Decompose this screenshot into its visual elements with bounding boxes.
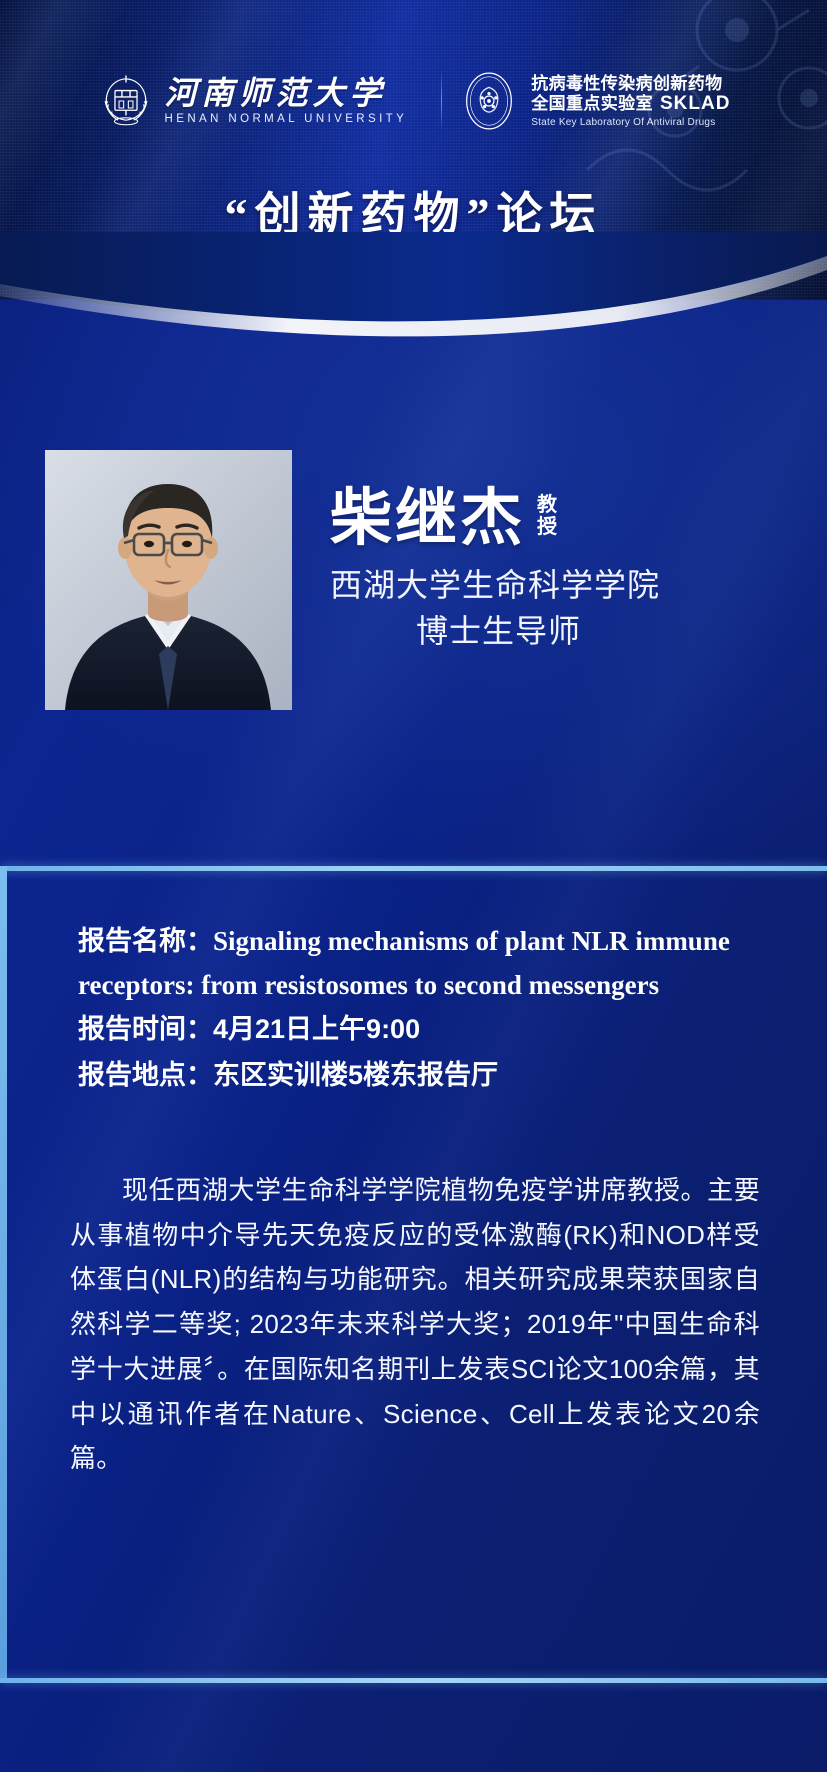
lab-name-line1: 抗病毒性传染病创新药物 — [531, 74, 730, 93]
university-name-cn: 河南师范大学 — [165, 77, 408, 111]
university-name-en: HENAN NORMAL UNIVERSITY — [165, 114, 408, 126]
university-crest-icon — [97, 72, 155, 130]
forum-title: “创新药物”论坛 — [0, 178, 827, 244]
speaker-academic-title: 教 授 — [537, 488, 557, 539]
speaker-photo — [45, 450, 292, 710]
speaker-info: 柴继杰 教 授 西湖大学生命科学学院 博士生导师 — [330, 488, 780, 655]
footer-accent-bar — [0, 1678, 827, 1683]
report-time-value: 4月21日上午9:00 — [213, 1014, 420, 1044]
poster-canvas: 河南师范大学 HENAN NORMAL UNIVERSITY — [0, 0, 827, 1772]
report-place-value: 东区实训楼5楼东报告厅 — [213, 1060, 498, 1090]
lab-name-en: State Key Laboratory Of Antiviral Drugs — [531, 117, 730, 128]
logo-bar: 河南师范大学 HENAN NORMAL UNIVERSITY — [0, 58, 827, 144]
affiliation-line-1: 西湖大学生命科学学院 — [330, 562, 780, 608]
speaker-name: 柴继杰 — [330, 488, 525, 550]
section-divider-line — [0, 866, 827, 871]
report-place-label: 报告地点： — [78, 1060, 213, 1090]
report-title-label: 报告名称： — [78, 926, 213, 956]
report-time-row: 报告时间：4月21日上午9:00 — [78, 1007, 750, 1053]
university-logo: 河南师范大学 HENAN NORMAL UNIVERSITY — [97, 72, 426, 130]
speaker-affiliation: 西湖大学生命科学学院 博士生导师 — [330, 562, 780, 655]
academic-title-char-2: 授 — [537, 516, 557, 538]
left-accent-edge — [0, 866, 7, 1683]
academic-title-char-1: 教 — [537, 494, 557, 516]
logo-divider — [441, 70, 442, 132]
report-place-row: 报告地点：东区实训楼5楼东报告厅 — [78, 1053, 750, 1099]
speaker-biography: 现任西湖大学生命科学学院植物免疫学讲席教授。主要从事植物中介导先天免疫反应的受体… — [70, 1168, 760, 1481]
lab-name-line2: 全国重点实验室 — [531, 94, 653, 113]
lecture-details: 报告名称：Signaling mechanisms of plant NLR i… — [78, 920, 750, 1099]
poster-header: 河南师范大学 HENAN NORMAL UNIVERSITY — [0, 0, 827, 300]
speaker-portrait-image — [45, 450, 292, 710]
report-title-row: 报告名称：Signaling mechanisms of plant NLR i… — [78, 920, 750, 1007]
lab-seal-icon — [458, 70, 520, 132]
report-time-label: 报告时间： — [78, 1014, 213, 1044]
affiliation-line-2: 博士生导师 — [330, 608, 667, 654]
lab-logo: 抗病毒性传染病创新药物 全国重点实验室 SKLAD State Key Labo… — [458, 70, 730, 132]
lab-abbreviation: SKLAD — [660, 93, 730, 114]
